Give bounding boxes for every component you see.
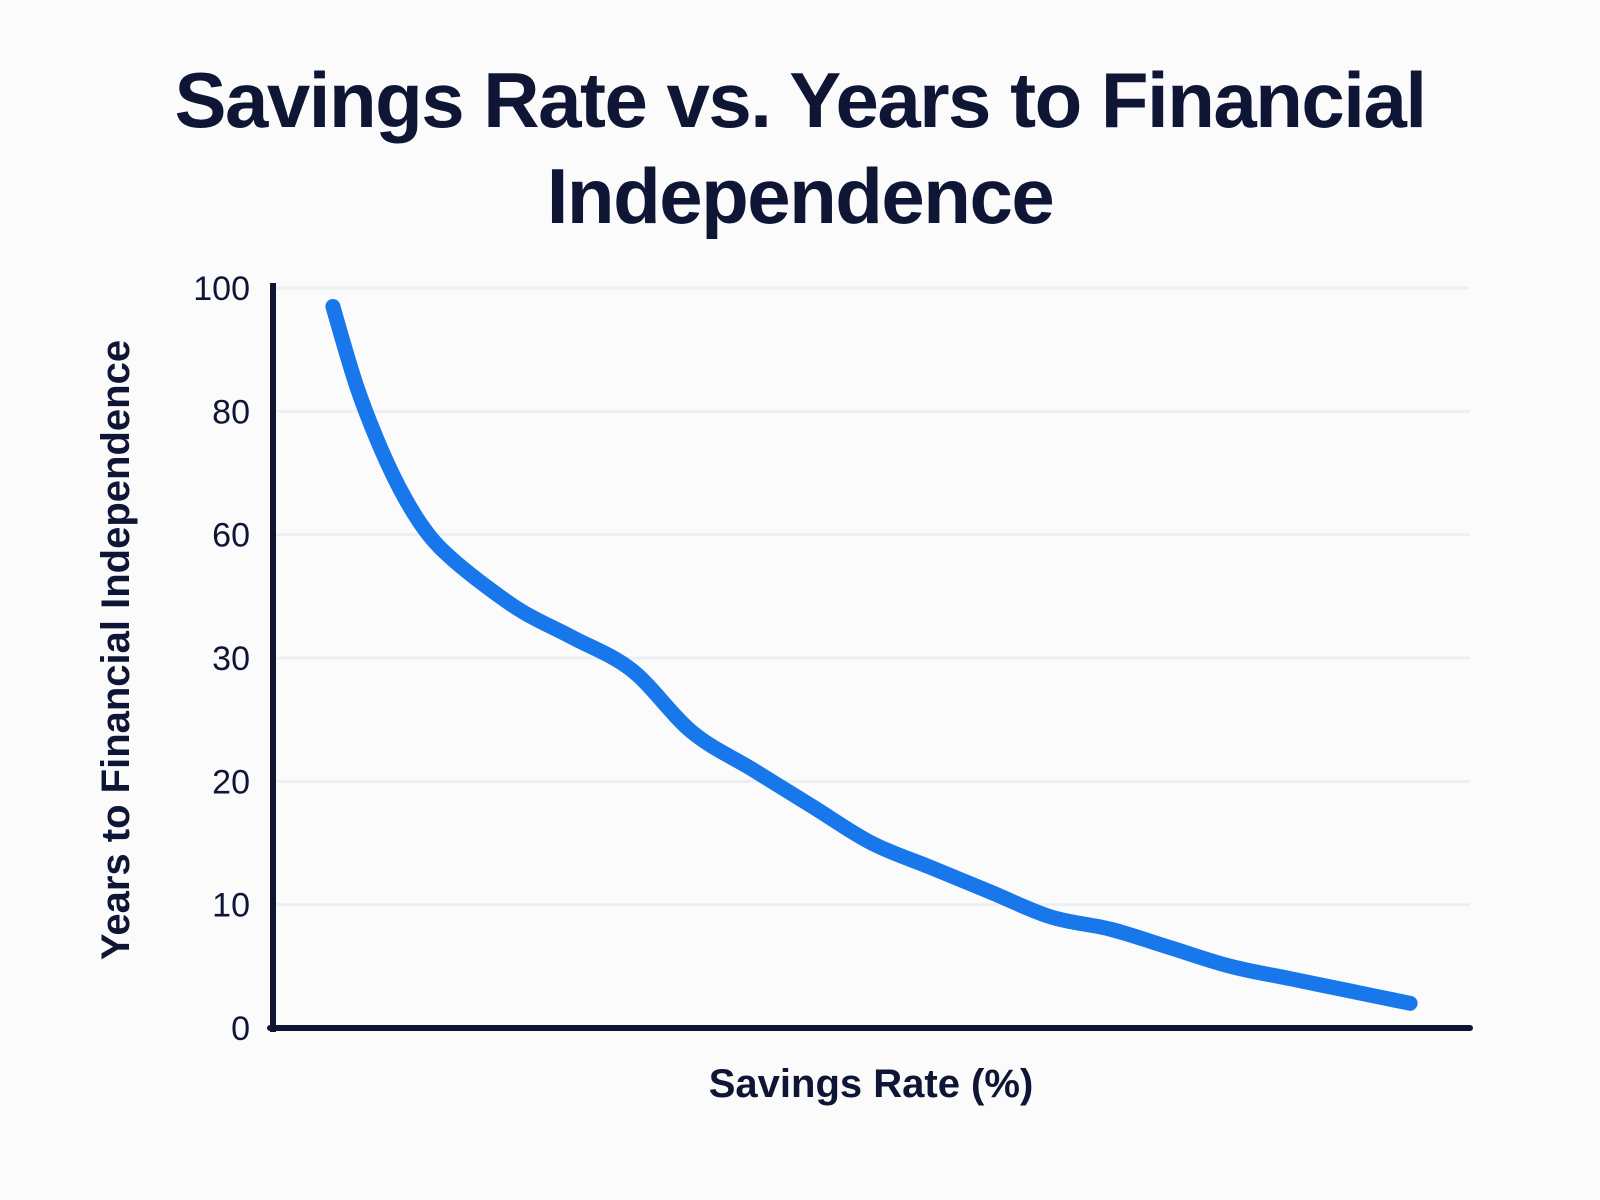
y-tick-label: 20 [212, 763, 250, 801]
y-tick-label: 0 [231, 1010, 250, 1048]
y-tick-label: 60 [212, 517, 250, 555]
y-tick-labels-group: 10080603020100 [193, 270, 250, 1048]
gridlines-group [273, 288, 1470, 905]
chart-canvas: Savings Rate vs. Years to Financial Inde… [0, 0, 1600, 1200]
plot-area: 10080603020100 [0, 0, 1600, 1200]
y-tick-label: 30 [212, 640, 250, 678]
y-tick-label: 100 [193, 270, 250, 308]
y-tick-label: 10 [212, 887, 250, 925]
y-tick-label: 80 [212, 393, 250, 431]
